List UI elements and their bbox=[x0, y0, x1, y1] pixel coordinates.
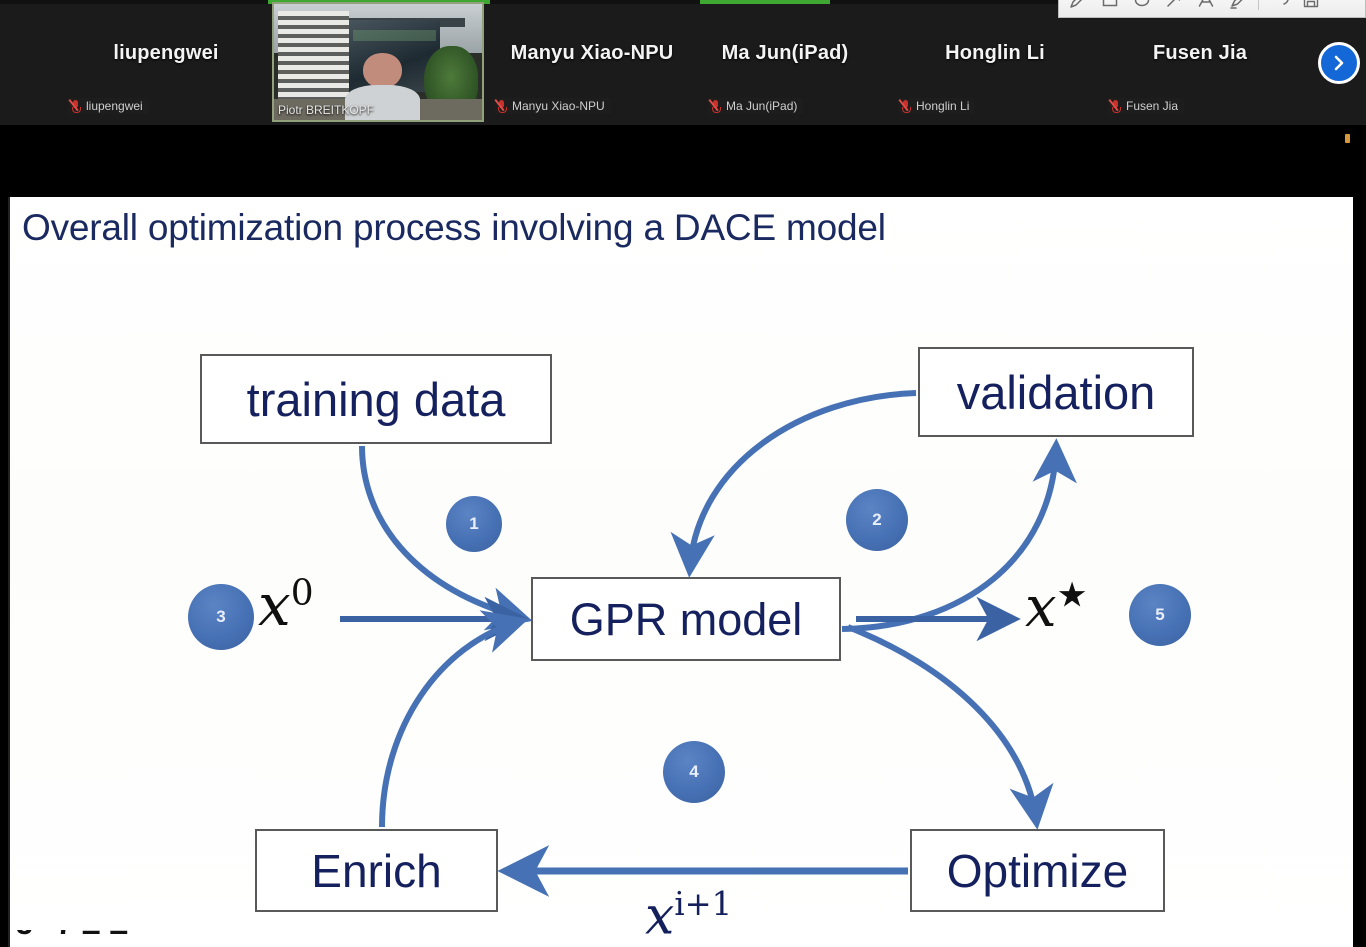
annotation-toolbar[interactable] bbox=[1058, 0, 1366, 18]
node-validation[interactable]: validation bbox=[918, 347, 1194, 437]
step-marker-1: 1 bbox=[446, 496, 502, 552]
screen-root: liupengwei liupengwei Piotr BREITKOPF bbox=[0, 0, 1366, 947]
participant-tile-fusen-jia[interactable]: Fusen Jia Fusen Jia bbox=[1100, 0, 1300, 125]
mic-muted-icon bbox=[901, 100, 911, 113]
step-marker-2: 2 bbox=[846, 489, 908, 551]
participant-tile-piotr-breitkopf-video[interactable]: Piotr BREITKOPF bbox=[272, 2, 484, 122]
participant-name-badge: Honglin Li bbox=[898, 98, 975, 114]
edge-enrich-to-gpr bbox=[382, 622, 518, 827]
participant-name-badge: liupengwei bbox=[68, 98, 149, 114]
step-number: 3 bbox=[216, 607, 225, 627]
node-training-data[interactable]: training data bbox=[200, 354, 552, 444]
next-page-button[interactable] bbox=[1318, 42, 1360, 84]
participant-name: Fusen Jia bbox=[1100, 42, 1300, 65]
letterbox-bar bbox=[0, 125, 1366, 197]
math-superscript: ★ bbox=[1057, 575, 1088, 615]
rectangle-icon[interactable] bbox=[1095, 0, 1125, 15]
node-gpr-model[interactable]: GPR model bbox=[531, 577, 841, 661]
toolbar-divider bbox=[1258, 0, 1259, 10]
mic-muted-icon bbox=[1111, 100, 1121, 113]
participant-badge-label: liupengwei bbox=[86, 99, 143, 113]
step-marker-5: 5 bbox=[1129, 584, 1191, 646]
arrow-icon[interactable] bbox=[1159, 0, 1189, 15]
chevron-right-icon bbox=[1330, 54, 1348, 72]
step-number: 4 bbox=[689, 762, 698, 782]
participant-name-badge: Ma Jun(iPad) bbox=[708, 98, 803, 114]
optimization-process-diagram: training data validation GPR model Enric… bbox=[10, 197, 1353, 939]
math-base: x bbox=[1025, 575, 1057, 640]
participant-badge-label: Fusen Jia bbox=[1126, 99, 1178, 113]
video-building bbox=[278, 11, 349, 106]
pen-icon[interactable] bbox=[1063, 0, 1093, 15]
participant-name-badge: Fusen Jia bbox=[1108, 98, 1184, 114]
participant-badge-label: Honglin Li bbox=[916, 99, 969, 113]
participant-tile-liupengwei[interactable]: liupengwei liupengwei bbox=[60, 0, 272, 125]
node-label: GPR model bbox=[570, 597, 803, 642]
video-signage bbox=[353, 30, 436, 42]
diagram-edges bbox=[10, 197, 1353, 939]
save-icon[interactable] bbox=[1296, 0, 1326, 15]
math-superscript: i+1 bbox=[674, 885, 732, 923]
ellipse-icon[interactable] bbox=[1127, 0, 1157, 15]
mic-muted-icon bbox=[711, 100, 721, 113]
participant-name: Manyu Xiao-NPU bbox=[486, 42, 698, 65]
math-base: x bbox=[258, 571, 291, 639]
math-label-x-initial: x0 bbox=[258, 571, 314, 639]
node-label: Enrich bbox=[311, 848, 441, 894]
participant-name-badge: Manyu Xiao-NPU bbox=[494, 98, 611, 114]
participant-badge-label: Piotr BREITKOPF bbox=[278, 103, 374, 117]
step-number: 5 bbox=[1155, 605, 1164, 625]
participant-badge-label: Ma Jun(iPad) bbox=[726, 99, 797, 113]
node-label: Optimize bbox=[947, 848, 1128, 894]
highlighter-icon[interactable] bbox=[1223, 0, 1253, 15]
edge-gpr-to-optimize bbox=[848, 627, 1036, 819]
step-number: 2 bbox=[872, 510, 881, 530]
participant-badge-label: Manyu Xiao-NPU bbox=[512, 99, 605, 113]
math-superscript: 0 bbox=[291, 573, 314, 614]
node-label: training data bbox=[247, 376, 506, 423]
node-enrich[interactable]: Enrich bbox=[255, 829, 498, 912]
participant-tile-honglin-li[interactable]: Honglin Li Honglin Li bbox=[890, 0, 1100, 125]
math-label-x-optimal: x★ bbox=[1025, 575, 1088, 640]
recording-dot-icon bbox=[1345, 134, 1350, 143]
math-base: x bbox=[645, 886, 674, 939]
mic-muted-icon bbox=[497, 100, 507, 113]
participant-name: liupengwei bbox=[60, 42, 272, 65]
step-marker-3: 3 bbox=[188, 584, 254, 650]
participant-tile-manyu-xiao-npu[interactable]: Manyu Xiao-NPU Manyu Xiao-NPU bbox=[486, 0, 698, 125]
undo-icon[interactable] bbox=[1264, 0, 1294, 15]
math-label-x-next: xi+1 bbox=[645, 885, 732, 939]
node-optimize[interactable]: Optimize bbox=[910, 829, 1165, 912]
participant-tile-ma-jun-ipad[interactable]: Ma Jun(iPad) Ma Jun(iPad) bbox=[700, 0, 870, 125]
node-label: validation bbox=[957, 369, 1156, 416]
step-number: 1 bbox=[469, 514, 478, 534]
participant-filmstrip: liupengwei liupengwei Piotr BREITKOPF bbox=[0, 0, 1366, 125]
presentation-slide: Overall optimization process involving a… bbox=[8, 197, 1353, 939]
text-icon[interactable] bbox=[1191, 0, 1221, 15]
participant-name: Honglin Li bbox=[890, 42, 1100, 65]
step-marker-4: 4 bbox=[663, 741, 725, 803]
participant-name: Ma Jun(iPad) bbox=[700, 42, 870, 65]
mic-muted-icon bbox=[71, 100, 81, 113]
